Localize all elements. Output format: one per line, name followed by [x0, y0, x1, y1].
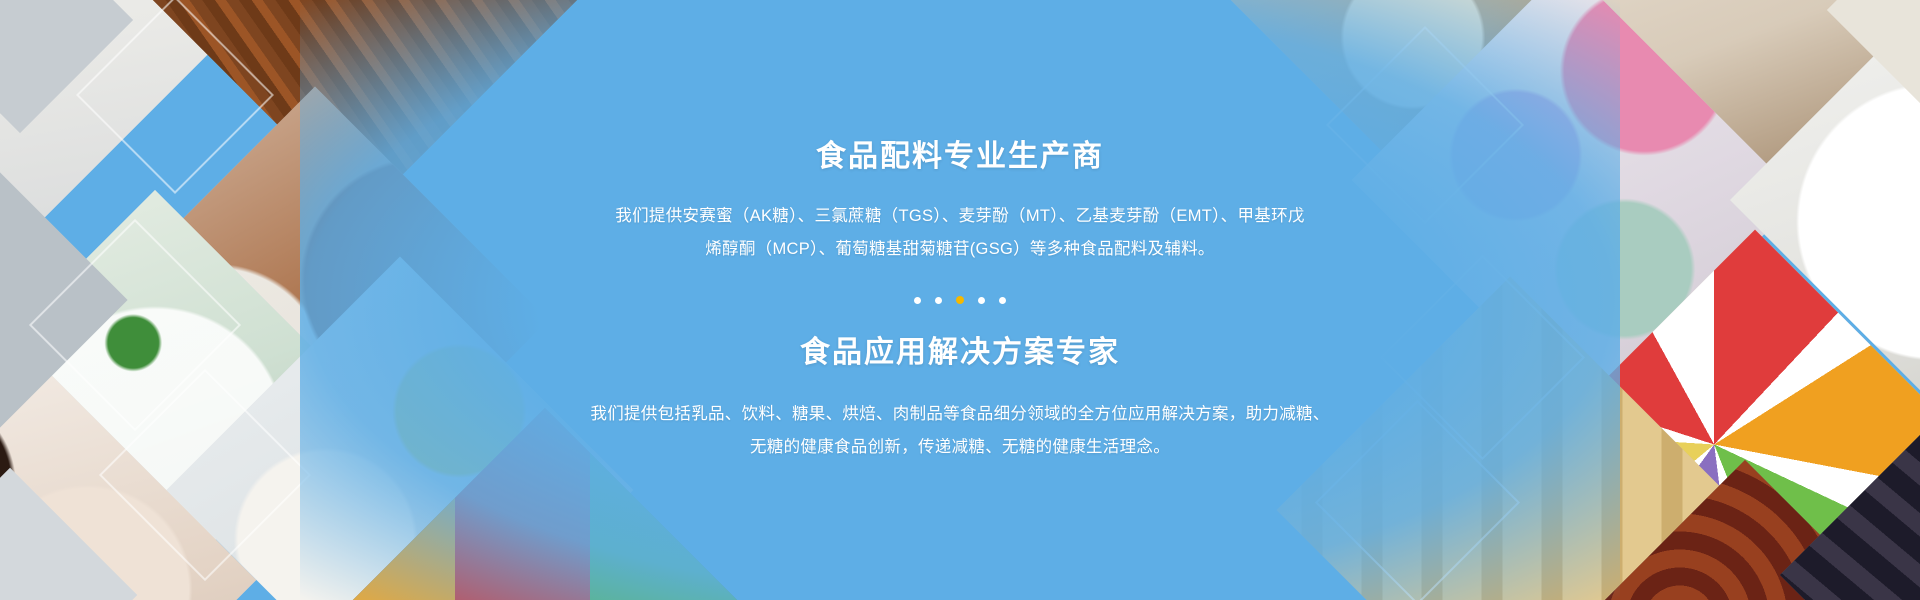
paragraph-solutions: 我们提供包括乳品、饮料、糖果、烘焙、肉制品等食品细分领域的全方位应用解决方案，助… — [510, 398, 1410, 464]
divider-dot-2 — [935, 297, 942, 304]
headline-solutions: 食品应用解决方案专家 — [510, 332, 1410, 374]
paragraph-producer-line-2: 烯醇酮（MCP）、葡萄糖基甜菊糖苷(GSG）等多种食品配料及辅料。 — [510, 233, 1410, 266]
dot-divider — [510, 296, 1410, 304]
divider-dot-1 — [914, 297, 921, 304]
divider-dot-3-active — [956, 296, 964, 304]
paragraph-solutions-line-2: 无糖的健康食品创新，传递减糖、无糖的健康生活理念。 — [510, 431, 1410, 464]
banner-content: 食品配料专业生产商 我们提供安赛蜜（AK糖）、三氯蔗糖（TGS）、麦芽酚（MT）… — [510, 136, 1410, 464]
hero-banner: 食品配料专业生产商 我们提供安赛蜜（AK糖）、三氯蔗糖（TGS）、麦芽酚（MT）… — [0, 0, 1920, 600]
paragraph-solutions-line-1: 我们提供包括乳品、饮料、糖果、烘焙、肉制品等食品细分领域的全方位应用解决方案，助… — [510, 398, 1410, 431]
content-block-producer: 食品配料专业生产商 我们提供安赛蜜（AK糖）、三氯蔗糖（TGS）、麦芽酚（MT）… — [510, 136, 1410, 266]
paragraph-producer: 我们提供安赛蜜（AK糖）、三氯蔗糖（TGS）、麦芽酚（MT）、乙基麦芽酚（EMT… — [510, 200, 1410, 266]
divider-dot-5 — [999, 297, 1006, 304]
divider-dot-4 — [978, 297, 985, 304]
content-block-solutions: 食品应用解决方案专家 我们提供包括乳品、饮料、糖果、烘焙、肉制品等食品细分领域的… — [510, 332, 1410, 464]
paragraph-producer-line-1: 我们提供安赛蜜（AK糖）、三氯蔗糖（TGS）、麦芽酚（MT）、乙基麦芽酚（EMT… — [510, 200, 1410, 233]
headline-producer: 食品配料专业生产商 — [510, 136, 1410, 178]
